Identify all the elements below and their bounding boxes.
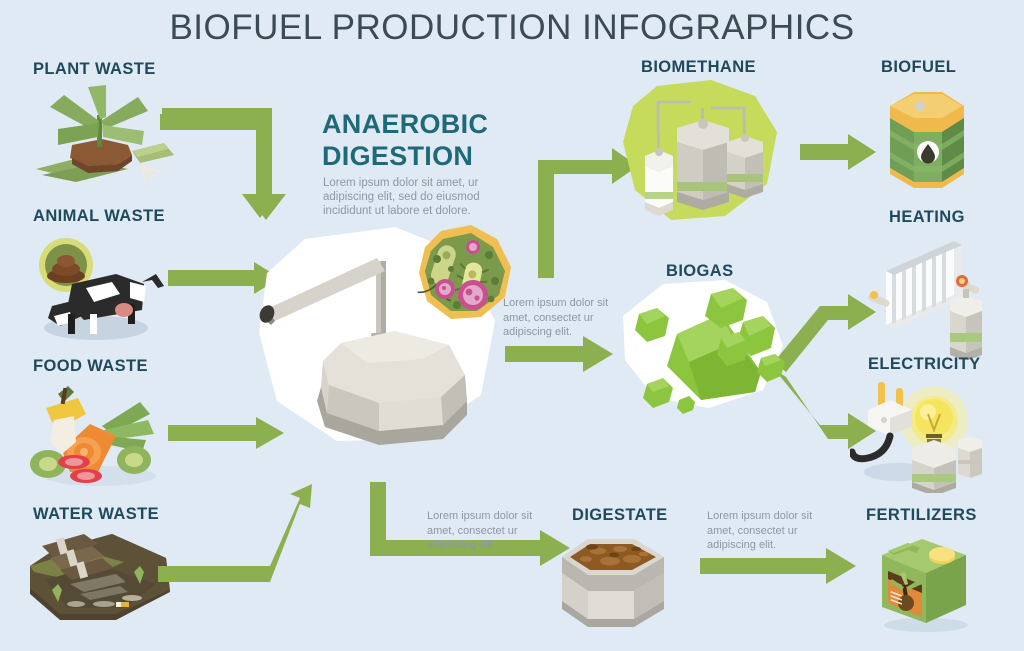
biomethane-tanks-icon	[615, 80, 790, 230]
digestate-note-left: Lorem ipsum dolor sit amet, consectet ur…	[427, 509, 535, 553]
arrow-water-to-digester	[150, 470, 320, 595]
process-heading: ANAEROBIC DIGESTION	[322, 108, 522, 172]
label-biomethane: BIOMETHANE	[641, 58, 756, 77]
arrow-digestate-to-fertilizers	[700, 546, 860, 594]
radiator-icon	[862, 235, 1002, 360]
process-heading-line1: ANAEROBIC	[322, 108, 522, 140]
label-heating: HEATING	[889, 208, 965, 227]
plant-waste-icon	[28, 85, 178, 190]
fertilizer-canister-icon	[862, 527, 997, 632]
label-fertilizers: FERTILIZERS	[866, 506, 977, 525]
label-biogas: BIOGAS	[666, 262, 734, 281]
label-digestate: DIGESTATE	[572, 506, 668, 525]
animal-waste-icon	[24, 232, 174, 342]
arrow-digester-to-biogas	[505, 330, 620, 390]
label-plant-waste: PLANT WASTE	[33, 60, 156, 79]
lightbulb-plug-icon	[850, 378, 1000, 493]
process-description: Lorem ipsum dolor sit amet, ur adipiscin…	[323, 176, 483, 218]
label-electricity: ELECTRICITY	[868, 355, 981, 374]
label-biofuel: BIOFUEL	[881, 58, 956, 77]
page-title: BIOFUEL PRODUCTION INFOGRAPHICS	[0, 8, 1024, 48]
digestate-tank-icon	[548, 527, 678, 632]
biogas-cloud-icon	[615, 280, 800, 415]
digestate-note-right: Lorem ipsum dolor sit amet, consectet ur…	[707, 509, 815, 553]
biofuel-barrel-icon	[866, 82, 986, 192]
arrow-plant-to-digester-2	[160, 106, 320, 231]
label-food-waste: FOOD WASTE	[33, 357, 148, 376]
label-water-waste: WATER WASTE	[33, 505, 159, 524]
infographic-canvas: BIOFUEL PRODUCTION INFOGRAPHICS PLANT WA…	[0, 0, 1024, 651]
anaerobic-digester-icon	[245, 225, 520, 455]
label-animal-waste: ANIMAL WASTE	[33, 207, 165, 226]
process-heading-line2: DIGESTION	[322, 140, 522, 172]
